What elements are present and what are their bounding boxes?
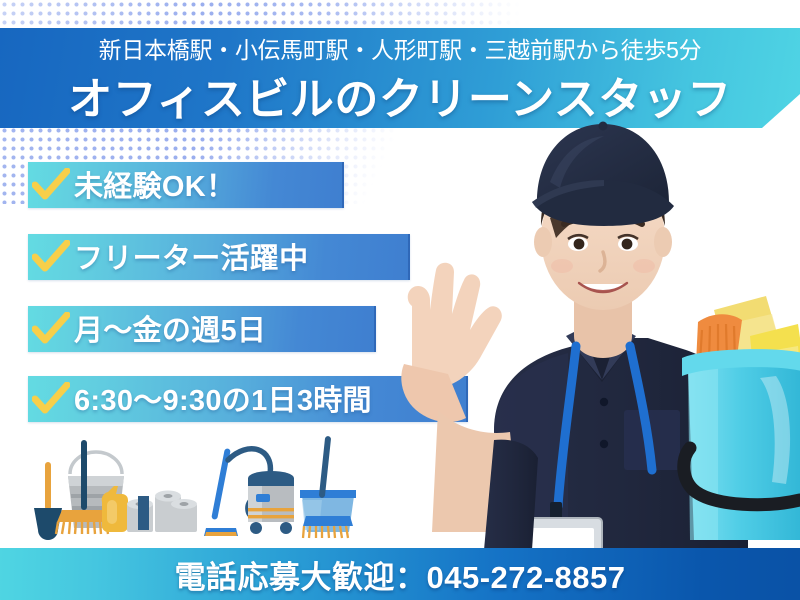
bullet-item-1: フリーター活躍中	[28, 234, 410, 280]
phone-cta-bar[interactable]: 電話応募大歓迎：045-272-8857	[0, 548, 800, 600]
job-advertisement-banner: 新日本橋駅・小伝馬町駅・人形町駅・三越前駅から徒歩5分 オフィスビルのクリーンス…	[0, 0, 800, 600]
phone-cta-text: 電話応募大歓迎：045-272-8857	[174, 552, 625, 597]
bullet-label-0: 未経験OK！	[74, 163, 235, 207]
vacuum-and-mop-illustration	[204, 434, 360, 542]
cleaning-supplies-illustration	[26, 434, 202, 542]
bullet-item-2: 月～金の週5日	[28, 306, 376, 352]
bullet-label-1: フリーター活躍中	[74, 235, 308, 279]
bullet-item-0: 未経験OK！	[28, 162, 344, 208]
check-icon	[28, 234, 74, 280]
check-icon	[28, 376, 74, 422]
bullet-label-2: 月～金の週5日	[74, 307, 266, 351]
check-icon	[28, 306, 74, 352]
check-icon	[28, 162, 74, 208]
bullet-label-3: 6:30〜9:30の1日3時間	[74, 377, 372, 421]
cleaning-staff-photo	[398, 110, 800, 550]
station-access-line: 新日本橋駅・小伝馬町駅・人形町駅・三越前駅から徒歩5分	[0, 28, 800, 68]
